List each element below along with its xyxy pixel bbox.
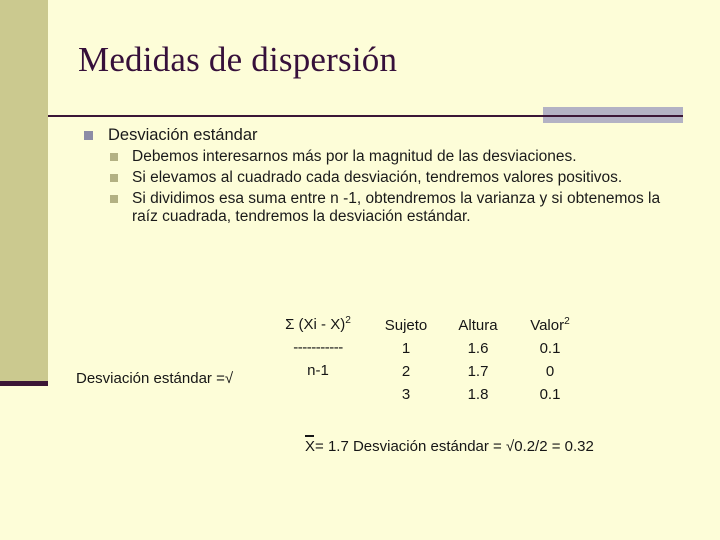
slide-canvas: Medidas de dispersión Desviación estánda… — [0, 0, 720, 540]
bullet-square-icon — [110, 174, 118, 182]
outline-level2-item: Si elevamos al cuadrado cada desviación,… — [107, 169, 680, 187]
result-text: = 1.7 Desviación estándar = √0.2/2 = 0.3… — [315, 438, 594, 455]
formula-fraction-bar: ----------- — [258, 337, 378, 359]
outline-level2-group: Debemos interesarnos más por la magnitud… — [80, 148, 680, 226]
cell-sujeto: 1 — [370, 337, 442, 360]
column-header-valor-text: Valor — [530, 317, 564, 334]
formula-label: Desviación estándar =√ — [76, 370, 233, 387]
outline-level2-label: Si dividimos esa suma entre n -1, obtend… — [132, 190, 660, 225]
column-header-valor-exponent: 2 — [564, 316, 570, 327]
formula-numerator: Σ (Xi - X)2 — [258, 313, 378, 337]
data-table: Sujeto Altura Valor2 1 1.6 0.1 2 1.7 0 3 — [370, 313, 586, 406]
outline-level1-label: Desviación estándar — [108, 126, 258, 144]
formula-numerator-exponent: 2 — [345, 315, 351, 326]
outline-level2-item: Si dividimos esa suma entre n -1, obtend… — [107, 190, 680, 226]
bullet-square-icon — [110, 195, 118, 203]
table-row: 2 1.7 0 — [370, 360, 586, 383]
result-line: X= 1.7 Desviación estándar = √0.2/2 = 0.… — [305, 438, 594, 455]
table-row: 1 1.6 0.1 — [370, 337, 586, 360]
cell-altura: 1.6 — [442, 337, 514, 360]
formula-fraction: Σ (Xi - X)2 ----------- n-1 — [258, 313, 378, 383]
table-row: 3 1.8 0.1 — [370, 383, 586, 406]
cell-altura: 1.7 — [442, 360, 514, 383]
header-divider-rule — [48, 115, 683, 117]
column-header-altura: Altura — [442, 313, 514, 337]
cell-valor: 0.1 — [514, 337, 586, 360]
content-outline: Desviación estándar Debemos interesarnos… — [80, 126, 680, 229]
formula-denominator: n-1 — [258, 359, 378, 383]
mean-symbol: X — [305, 438, 315, 455]
cell-valor: 0 — [514, 360, 586, 383]
cell-valor: 0.1 — [514, 383, 586, 406]
page-title: Medidas de dispersión — [78, 40, 397, 80]
column-header-sujeto: Sujeto — [370, 313, 442, 337]
left-decorative-band — [0, 0, 48, 381]
bullet-square-icon — [110, 153, 118, 161]
bullet-square-icon — [84, 131, 93, 140]
column-header-valor: Valor2 — [514, 313, 586, 337]
outline-level1-item: Desviación estándar — [80, 126, 680, 145]
outline-level2-label: Debemos interesarnos más por la magnitud… — [132, 148, 577, 165]
outline-level2-label: Si elevamos al cuadrado cada desviación,… — [132, 169, 622, 186]
table-header-row: Sujeto Altura Valor2 — [370, 313, 586, 337]
formula-numerator-text: Σ (Xi - X) — [285, 316, 345, 333]
cell-sujeto: 2 — [370, 360, 442, 383]
left-band-accent-cap — [0, 381, 48, 386]
cell-altura: 1.8 — [442, 383, 514, 406]
cell-sujeto: 3 — [370, 383, 442, 406]
outline-level2-item: Debemos interesarnos más por la magnitud… — [107, 148, 680, 166]
